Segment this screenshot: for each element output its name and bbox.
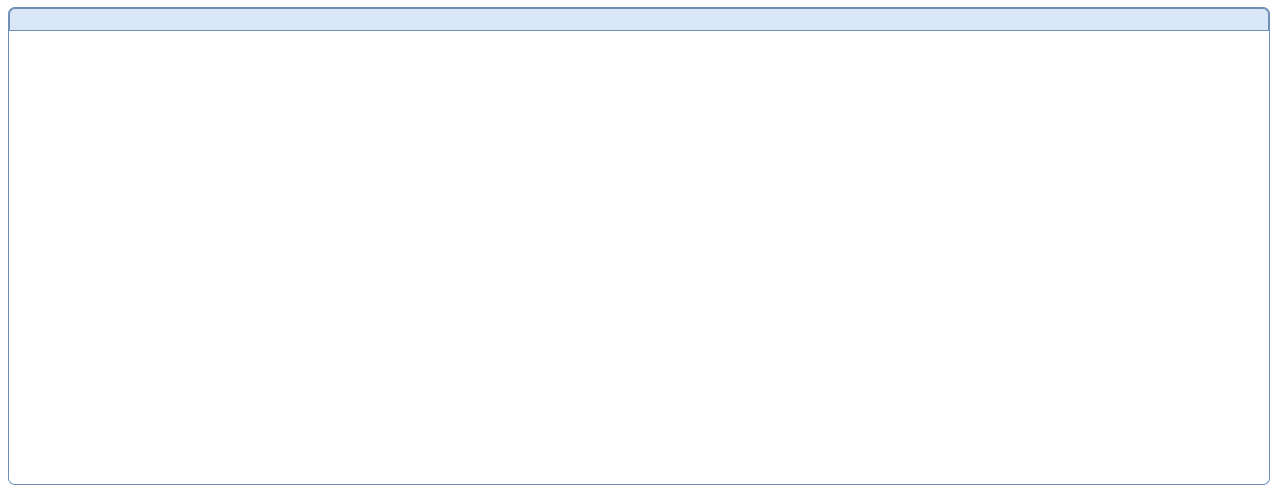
chart-title-bar [9,8,1269,31]
chart-frame [8,7,1270,485]
org-chart-canvas [0,0,1280,493]
